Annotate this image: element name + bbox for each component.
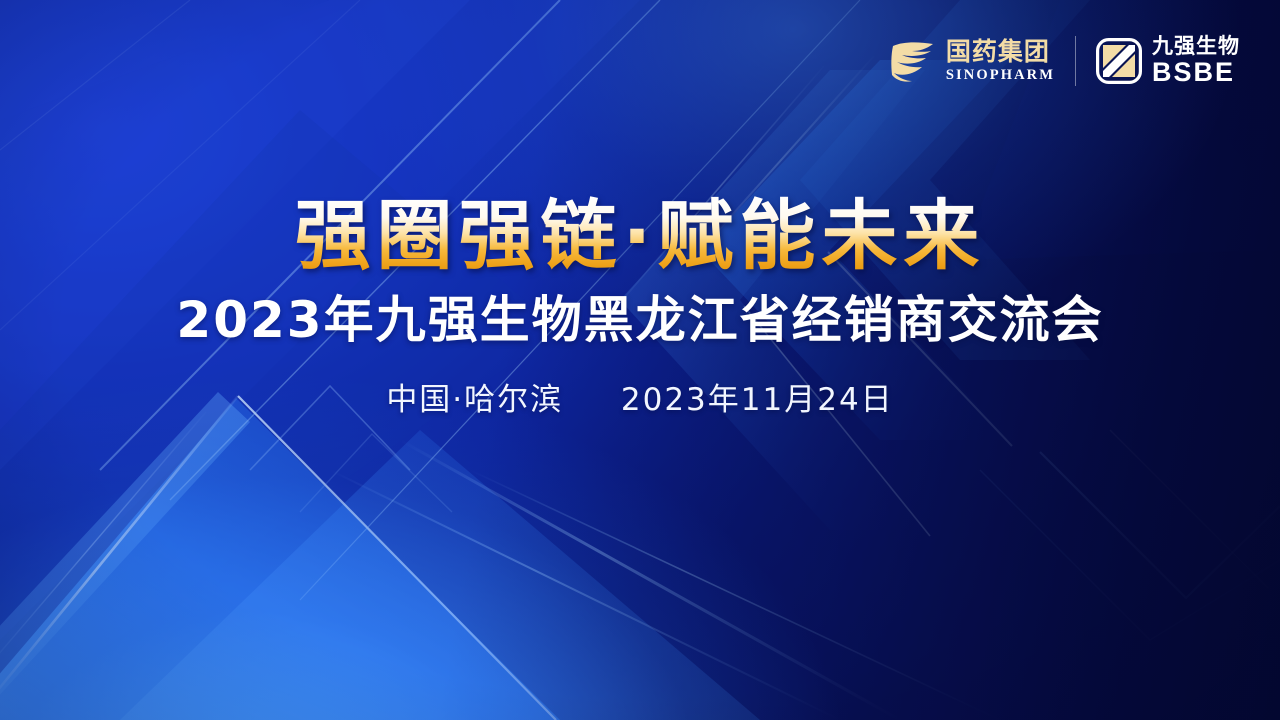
- bsbe-en-label: BSBE: [1152, 59, 1235, 86]
- event-key-visual-poster: 国药集团 SINOPHARM 九强生物 BSBE 强圈强链·赋能未来 2023年…: [0, 0, 1280, 720]
- poster-content: 强圈强链·赋能未来 2023年九强生物黑龙江省经销商交流会 中国·哈尔滨 202…: [0, 196, 1280, 419]
- bsbe-s-monogram-icon: [1096, 38, 1142, 84]
- poster-date: 2023年11月24日: [621, 382, 894, 418]
- sinopharm-logo: 国药集团 SINOPHARM: [890, 39, 1055, 83]
- sinopharm-cn-label: 国药集团: [946, 39, 1050, 64]
- poster-subtitle: 2023年九强生物黑龙江省经销商交流会: [0, 293, 1280, 348]
- poster-location: 中国·哈尔滨: [386, 382, 563, 418]
- bsbe-cn-label: 九强生物: [1152, 36, 1240, 57]
- logo-bar: 国药集团 SINOPHARM 九强生物 BSBE: [890, 36, 1240, 86]
- poster-dateline: 中国·哈尔滨 2023年11月24日: [0, 374, 1280, 419]
- sinopharm-wave-mark-icon: [890, 39, 936, 83]
- sinopharm-en-label: SINOPHARM: [946, 68, 1055, 83]
- poster-main-title: 强圈强链·赋能未来: [295, 196, 986, 277]
- logo-divider: [1075, 36, 1076, 86]
- bsbe-logo: 九强生物 BSBE: [1096, 36, 1240, 86]
